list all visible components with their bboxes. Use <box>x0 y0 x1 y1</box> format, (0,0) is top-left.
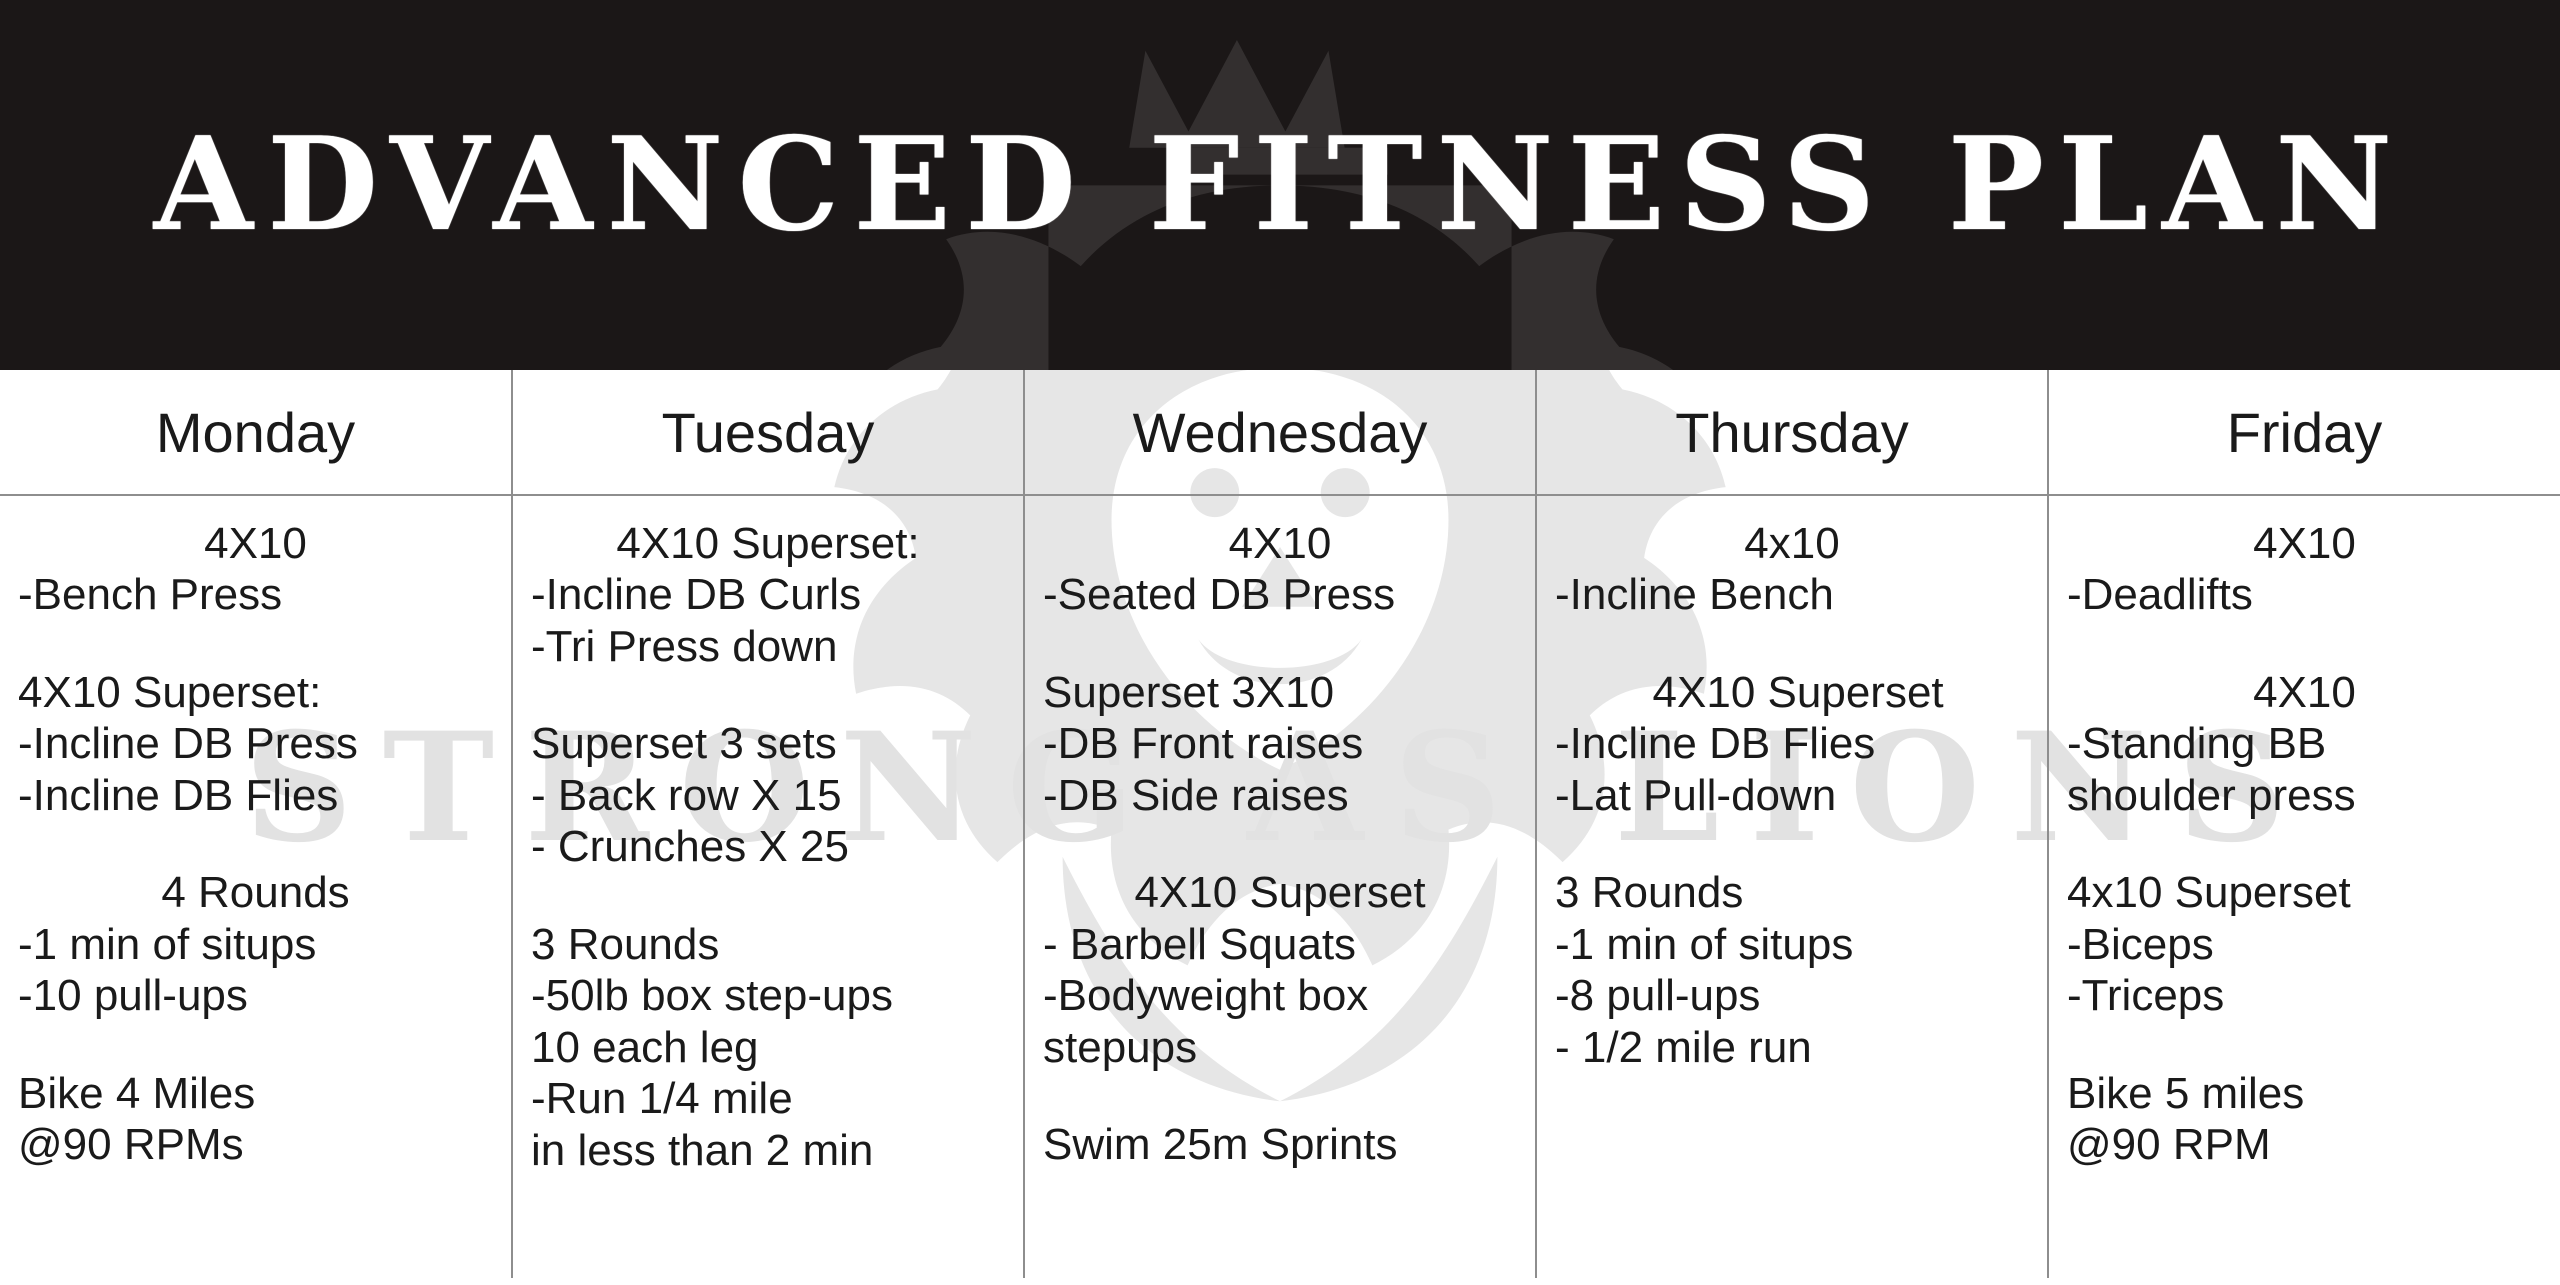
column-header-wednesday: Wednesday <box>1024 370 1536 495</box>
workout-block: 4X10 -Seated DB Press <box>1043 518 1517 621</box>
workout-block: Superset 3 sets - Back row X 15 - Crunch… <box>531 718 1005 872</box>
workout-line: -Lat Pull-down <box>1555 770 2029 821</box>
workout-line: -Incline DB Curls <box>531 569 1005 620</box>
workout-line: - Barbell Squats <box>1043 919 1517 970</box>
workout-block: 4X10 Superset -Incline DB Flies -Lat Pul… <box>1555 667 2029 821</box>
workout-line: - Back row X 15 <box>531 770 1005 821</box>
workout-block: Bike 4 Miles @90 RPMs <box>18 1068 493 1171</box>
workout-line: stepups <box>1043 1022 1517 1073</box>
day-cell-thursday: 4x10 -Incline Bench 4X10 Superset -Incli… <box>1536 495 2048 1278</box>
workout-block: 4X10 -Standing BB shoulder press <box>2067 667 2542 821</box>
workout-line: -Incline DB Press <box>18 718 493 769</box>
workout-block: 4X10 Superset: -Incline DB Press -Inclin… <box>18 667 493 821</box>
workout-line: -Biceps <box>2067 919 2542 970</box>
day-cell-tuesday: 4X10 Superset: -Incline DB Curls -Tri Pr… <box>512 495 1024 1278</box>
workout-block: 3 Rounds -50lb box step-ups 10 each leg … <box>531 919 1005 1176</box>
workout-line: 3 Rounds <box>531 919 1005 970</box>
fitness-plan-page: STRONG AS LIONS ADVANCED FITNESS PLAN Mo… <box>0 0 2560 1285</box>
workout-line: @90 RPM <box>2067 1119 2542 1170</box>
workout-line: -Deadlifts <box>2067 569 2542 620</box>
workout-line: shoulder press <box>2067 770 2542 821</box>
workout-line: - Crunches X 25 <box>531 821 1005 872</box>
table-row: 4X10 -Bench Press 4X10 Superset: -Inclin… <box>0 495 2560 1278</box>
workout-block: 4x10 -Incline Bench <box>1555 518 2029 621</box>
workout-line: -50lb box step-ups <box>531 970 1005 1021</box>
workout-line: 4 Rounds <box>18 867 493 918</box>
weekly-plan-table-wrapper: Monday Tuesday Wednesday Thursday Friday… <box>0 370 2560 1278</box>
workout-line: -Standing BB <box>2067 718 2542 769</box>
workout-line: in less than 2 min <box>531 1125 1005 1176</box>
column-header-tuesday: Tuesday <box>512 370 1024 495</box>
workout-line: 4X10 <box>2067 518 2542 569</box>
workout-block: Superset 3X10 -DB Front raises -DB Side … <box>1043 667 1517 821</box>
workout-line: -Bench Press <box>18 569 493 620</box>
workout-line: 4X10 Superset <box>1043 867 1517 918</box>
workout-line: 10 each leg <box>531 1022 1005 1073</box>
workout-block: 3 Rounds -1 min of situps -8 pull-ups - … <box>1555 867 2029 1073</box>
workout-line: @90 RPMs <box>18 1119 493 1170</box>
workout-line: 4X10 Superset: <box>531 518 1005 569</box>
workout-line: Bike 4 Miles <box>18 1068 493 1119</box>
day-cell-wednesday: 4X10 -Seated DB Press Superset 3X10 -DB … <box>1024 495 1536 1278</box>
workout-line: Swim 25m Sprints <box>1043 1119 1517 1170</box>
workout-line: -DB Front raises <box>1043 718 1517 769</box>
workout-block: Bike 5 miles @90 RPM <box>2067 1068 2542 1171</box>
workout-line: 4X10 <box>1043 518 1517 569</box>
workout-line: 4X10 Superset <box>1555 667 2029 718</box>
workout-line: Superset 3 sets <box>531 718 1005 769</box>
page-title: ADVANCED FITNESS PLAN <box>0 0 2560 370</box>
column-header-monday: Monday <box>0 370 512 495</box>
workout-line: 4x10 <box>1555 518 2029 569</box>
workout-line: -8 pull-ups <box>1555 970 2029 1021</box>
workout-line: -1 min of situps <box>1555 919 2029 970</box>
workout-line: -Run 1/4 mile <box>531 1073 1005 1124</box>
workout-block: Swim 25m Sprints <box>1043 1119 1517 1170</box>
header-banner: ADVANCED FITNESS PLAN <box>0 0 2560 370</box>
weekly-plan-table: Monday Tuesday Wednesday Thursday Friday… <box>0 370 2560 1278</box>
workout-line: -10 pull-ups <box>18 970 493 1021</box>
workout-line: 4X10 <box>2067 667 2542 718</box>
workout-line: -Incline DB Flies <box>1555 718 2029 769</box>
workout-line: Bike 5 miles <box>2067 1068 2542 1119</box>
day-cell-monday: 4X10 -Bench Press 4X10 Superset: -Inclin… <box>0 495 512 1278</box>
workout-line: - 1/2 mile run <box>1555 1022 2029 1073</box>
table-header-row: Monday Tuesday Wednesday Thursday Friday <box>0 370 2560 495</box>
workout-block: 4X10 -Bench Press <box>18 518 493 621</box>
workout-line: Superset 3X10 <box>1043 667 1517 718</box>
column-header-thursday: Thursday <box>1536 370 2048 495</box>
workout-block: 4x10 Superset -Biceps -Triceps <box>2067 867 2542 1021</box>
workout-line: -DB Side raises <box>1043 770 1517 821</box>
workout-line: -Seated DB Press <box>1043 569 1517 620</box>
workout-block: 4X10 Superset - Barbell Squats -Bodyweig… <box>1043 867 1517 1073</box>
day-cell-friday: 4X10 -Deadlifts 4X10 -Standing BB should… <box>2048 495 2560 1278</box>
workout-line: 4X10 Superset: <box>18 667 493 718</box>
workout-line: 4x10 Superset <box>2067 867 2542 918</box>
workout-line: -Incline Bench <box>1555 569 2029 620</box>
workout-line: -Incline DB Flies <box>18 770 493 821</box>
workout-line: -1 min of situps <box>18 919 493 970</box>
workout-block: 4X10 -Deadlifts <box>2067 518 2542 621</box>
workout-block: 4X10 Superset: -Incline DB Curls -Tri Pr… <box>531 518 1005 672</box>
workout-block: 4 Rounds -1 min of situps -10 pull-ups <box>18 867 493 1021</box>
column-header-friday: Friday <box>2048 370 2560 495</box>
workout-line: 3 Rounds <box>1555 867 2029 918</box>
workout-line: 4X10 <box>18 518 493 569</box>
workout-line: -Tri Press down <box>531 621 1005 672</box>
workout-line: -Triceps <box>2067 970 2542 1021</box>
workout-line: -Bodyweight box <box>1043 970 1517 1021</box>
